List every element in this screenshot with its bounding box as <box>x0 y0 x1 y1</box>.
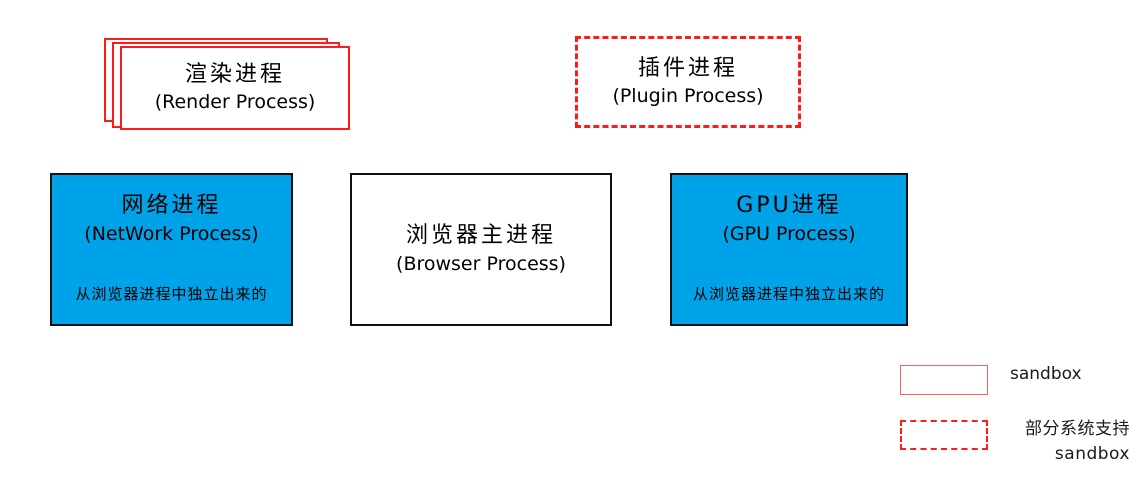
legend-swatch-solid-red-icon <box>900 365 988 395</box>
render-process-title-en: (Render Process) <box>155 90 316 115</box>
network-process-title-cn: 网络进程 <box>121 192 221 220</box>
gpu-process-title-cn: GPU进程 <box>736 192 841 220</box>
legend-label-partial-sandbox-line2: sandbox <box>1010 442 1130 467</box>
legend-label-partial-sandbox: 部分系统支持 sandbox <box>1010 417 1130 466</box>
legend-label-sandbox: sandbox <box>1010 362 1130 387</box>
legend: sandbox 部分系统支持 sandbox <box>900 362 1130 488</box>
browser-process-title-cn: 浏览器主进程 <box>406 222 556 250</box>
browser-process-title-en: (Browser Process) <box>396 252 566 277</box>
plugin-process-title-en: (Plugin Process) <box>612 84 763 109</box>
network-process-box[interactable]: 网络进程 (NetWork Process) 从浏览器进程中独立出来的 <box>50 173 293 326</box>
render-process-box[interactable]: 渲染进程 (Render Process) <box>120 46 350 130</box>
diagram-canvas: 渲染进程 (Render Process) 插件进程 (Plugin Proce… <box>0 0 1142 494</box>
legend-swatch-dashed-red-icon <box>900 420 988 450</box>
legend-label-partial-sandbox-line1: 部分系统支持 <box>1025 419 1130 439</box>
gpu-process-box[interactable]: GPU进程 (GPU Process) 从浏览器进程中独立出来的 <box>670 173 908 326</box>
legend-item-sandbox: sandbox <box>900 362 1130 395</box>
render-process-title-cn: 渲染进程 <box>185 61 285 89</box>
gpu-process-title-en: (GPU Process) <box>722 222 855 247</box>
gpu-process-subtitle-cn: 从浏览器进程中独立出来的 <box>693 285 885 305</box>
network-process-subtitle-cn: 从浏览器进程中独立出来的 <box>75 285 267 305</box>
render-process-group[interactable]: 渲染进程 (Render Process) <box>104 38 350 130</box>
legend-item-partial-sandbox: 部分系统支持 sandbox <box>900 417 1130 466</box>
plugin-process-title-cn: 插件进程 <box>638 55 738 83</box>
network-process-title-en: (NetWork Process) <box>84 222 258 247</box>
browser-process-box[interactable]: 浏览器主进程 (Browser Process) <box>350 173 612 326</box>
plugin-process-box[interactable]: 插件进程 (Plugin Process) <box>575 36 801 128</box>
